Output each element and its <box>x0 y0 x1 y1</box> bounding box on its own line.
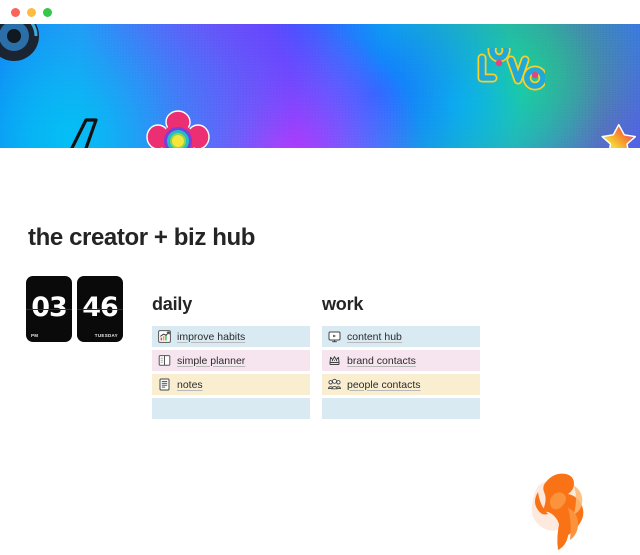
list-item[interactable]: notes <box>152 374 310 395</box>
list-work: content hub brand contacts <box>322 326 480 422</box>
page-title: the creator + biz hub <box>28 224 255 252</box>
close-button[interactable] <box>11 8 20 17</box>
list-item-icon <box>328 402 341 415</box>
shooting-star-sticker <box>596 120 640 148</box>
list-item-label: improve habits <box>177 331 245 343</box>
love-sticker <box>473 48 545 96</box>
list-item[interactable] <box>152 398 310 419</box>
monitor-play-icon <box>328 330 341 343</box>
list-item[interactable]: people contacts <box>322 374 480 395</box>
list-item[interactable]: improve habits <box>152 326 310 347</box>
minimize-button[interactable] <box>27 8 36 17</box>
crown-icon <box>328 354 341 367</box>
lightning-bolt-sticker <box>58 116 106 148</box>
flip-clock-meridiem: PM <box>31 333 38 338</box>
flip-clock-weekday: TUESDAY <box>95 333 118 338</box>
flower-sticker <box>146 110 210 148</box>
flame-dancer-illustration <box>512 466 624 555</box>
list-item-label: notes <box>177 379 203 391</box>
bar-chart-icon <box>158 330 171 343</box>
flip-clock-minute: 46 TUESDAY <box>77 276 123 342</box>
document-icon <box>158 378 171 391</box>
list-item-label: content hub <box>347 331 402 343</box>
column-heading-daily: daily <box>152 294 192 315</box>
list-item[interactable]: simple planner <box>152 350 310 371</box>
flip-clock-hour: 03 PM <box>26 276 72 342</box>
list-item-label: brand contacts <box>347 355 416 367</box>
cover-banner <box>0 24 640 148</box>
list-daily: improve habits simple planner <box>152 326 310 422</box>
list-item-icon <box>158 402 171 415</box>
flip-clock-hinge <box>26 309 72 310</box>
flip-clock: 03 PM 46 TUESDAY <box>26 276 123 342</box>
list-item[interactable] <box>322 398 480 419</box>
people-group-icon <box>328 378 341 391</box>
window-titlebar <box>0 0 640 24</box>
list-item[interactable]: content hub <box>322 326 480 347</box>
maximize-button[interactable] <box>43 8 52 17</box>
list-item[interactable]: brand contacts <box>322 350 480 371</box>
open-book-icon <box>158 354 171 367</box>
dark-circle-sticker <box>0 24 42 64</box>
list-item-label: simple planner <box>177 355 245 367</box>
column-heading-work: work <box>322 294 363 315</box>
list-item-label: people contacts <box>347 379 421 391</box>
page-content: the creator + biz hub 03 PM 46 TUESDAY d… <box>0 148 640 400</box>
flip-clock-hinge <box>77 309 123 310</box>
